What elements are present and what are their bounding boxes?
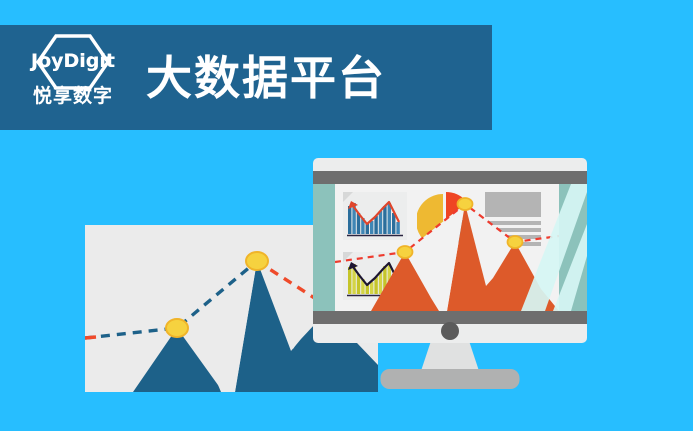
data-point-marker	[166, 319, 188, 337]
monitor-stand-base	[381, 369, 520, 389]
monitor-stand-neck	[421, 343, 479, 371]
data-point-marker	[508, 236, 523, 248]
orange-mountain-area-chart	[335, 184, 559, 311]
screen-content	[335, 184, 559, 311]
data-point-marker	[246, 252, 268, 270]
logo-wordmark: JoyDigit	[31, 52, 115, 71]
illustration-canvas: JoyDigit 悦享数字 大数据平台	[0, 0, 693, 431]
screen-side-band-right	[559, 184, 587, 311]
monitor-screen	[313, 184, 587, 311]
screen-side-band-left	[313, 184, 335, 311]
monitor-bezel-top	[313, 171, 587, 184]
desktop-monitor	[313, 158, 587, 343]
trend-line-red-stub	[85, 337, 96, 338]
monitor-power-button[interactable]	[441, 322, 459, 340]
page-title: 大数据平台	[146, 55, 386, 101]
logo-subtitle: 悦享数字	[33, 87, 113, 106]
header-banner: JoyDigit 悦享数字 大数据平台	[0, 25, 492, 130]
data-point-marker	[458, 198, 473, 210]
data-point-marker	[398, 246, 413, 258]
brand-logo: JoyDigit 悦享数字	[14, 32, 132, 124]
